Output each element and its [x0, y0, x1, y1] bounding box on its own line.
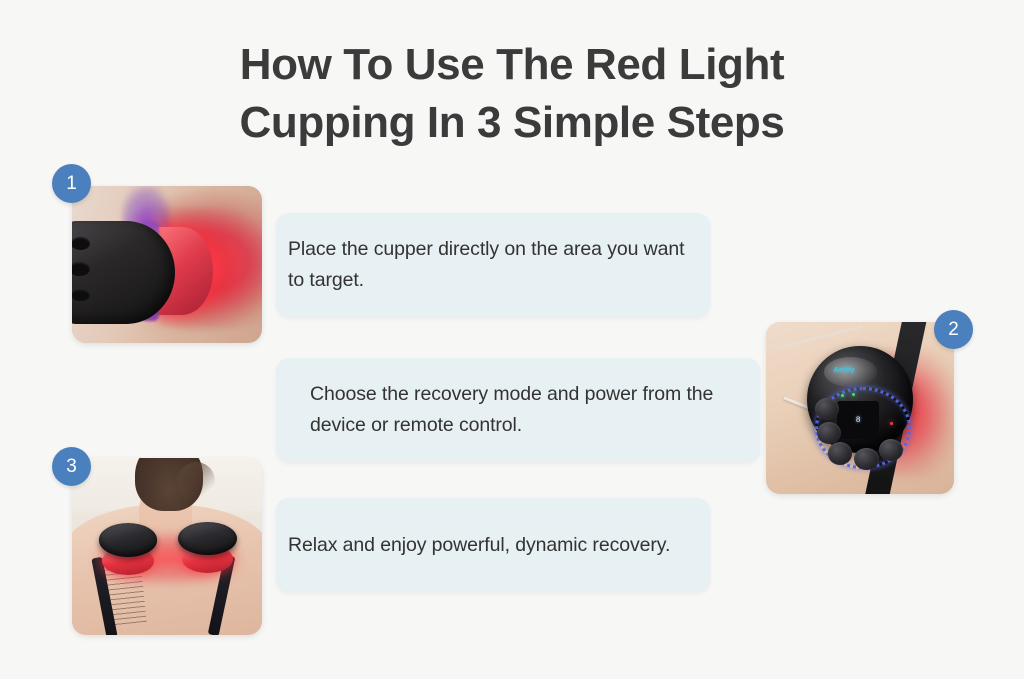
led-red — [890, 422, 893, 425]
step-2-badge: 2 — [934, 310, 973, 349]
step-1-text-card: Place the cupper directly on the area yo… — [276, 213, 710, 317]
device-brand-label: Aerify — [834, 367, 855, 374]
step-2-image: Aerify 8 — [766, 322, 954, 494]
infographic-canvas: How To Use The Red Light Cupping In 3 Si… — [0, 0, 1024, 679]
device-disc-left — [99, 523, 158, 557]
device-key-4 — [854, 448, 878, 470]
step-3-text-card: Relax and enjoy powerful, dynamic recove… — [276, 498, 710, 592]
step-1-number: 1 — [66, 173, 77, 195]
step-2-number: 2 — [948, 319, 959, 341]
device-key-2 — [817, 422, 841, 444]
step-2-text: Choose the recovery mode and power from … — [276, 379, 760, 441]
step-3-number: 3 — [66, 456, 77, 478]
page-title: How To Use The Red Light Cupping In 3 Si… — [0, 36, 1024, 152]
device-key-3 — [828, 442, 852, 464]
step-1-text: Place the cupper directly on the area yo… — [276, 234, 710, 296]
page-title-line-1: How To Use The Red Light — [0, 36, 1024, 94]
step-3-image — [72, 458, 262, 635]
device-button-1 — [72, 237, 90, 249]
device-button-2 — [72, 262, 90, 277]
step-2-text-card: Choose the recovery mode and power from … — [276, 358, 760, 462]
step-3-text: Relax and enjoy powerful, dynamic recove… — [276, 530, 690, 561]
step-1-badge: 1 — [52, 164, 91, 203]
device-button-3 — [72, 289, 90, 301]
step-3-badge: 3 — [52, 447, 91, 486]
device-screen-value: 8 — [837, 401, 878, 439]
device-body — [72, 221, 175, 325]
page-title-line-2: Cupping In 3 Simple Steps — [0, 94, 1024, 152]
step-1-image — [72, 186, 262, 343]
